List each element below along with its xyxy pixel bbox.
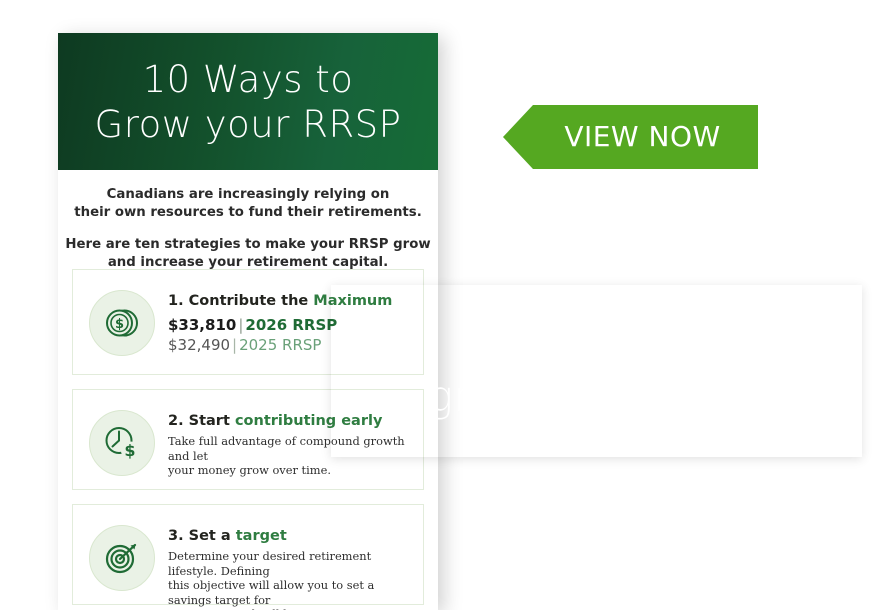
tip-heading-plain: 2. Start: [168, 413, 235, 429]
tip-heading-accent: target: [236, 528, 287, 544]
svg-text:$: $: [124, 441, 135, 460]
svg-text:$: $: [115, 317, 124, 332]
coins-dollar-icon: $: [89, 290, 155, 356]
infographic-title: 10 Ways to Grow your RRSP: [95, 57, 402, 147]
clock-dollar-icon: $: [89, 410, 155, 476]
overlay-title: 10 ways to grow your RRSP: [428, 319, 765, 423]
amount-year-label: 2026 RRSP: [245, 316, 337, 334]
infographic-header: 10 Ways to Grow your RRSP: [58, 33, 438, 170]
tip-heading: 3. Set a target: [168, 527, 413, 545]
tip-heading-plain: 3. Set a: [168, 528, 236, 544]
overlay-title-card[interactable]: 10 ways to grow your RRSP: [331, 285, 862, 457]
view-now-button[interactable]: VIEW NOW: [503, 105, 758, 169]
amount-separator: |: [230, 336, 239, 354]
amount-year-label: 2025 RRSP: [239, 336, 321, 354]
intro-block: Canadians are increasingly relying on th…: [58, 170, 438, 272]
intro-paragraph-2: Here are ten strategies to make your RRS…: [58, 236, 438, 272]
tip-body: 3. Set a target Determine your desired r…: [168, 519, 413, 610]
intro-paragraph-1: Canadians are increasingly relying on th…: [58, 186, 438, 222]
target-arrow-icon: [89, 525, 155, 591]
tip-description: Determine your desired retirement lifest…: [168, 549, 413, 610]
view-now-label: VIEW NOW: [540, 122, 720, 152]
tip-card[interactable]: 3. Set a target Determine your desired r…: [72, 504, 424, 605]
tip-heading-plain: 1. Contribute the: [168, 293, 313, 309]
amount-value: $32,490: [168, 336, 230, 354]
amount-value: $33,810: [168, 316, 236, 334]
